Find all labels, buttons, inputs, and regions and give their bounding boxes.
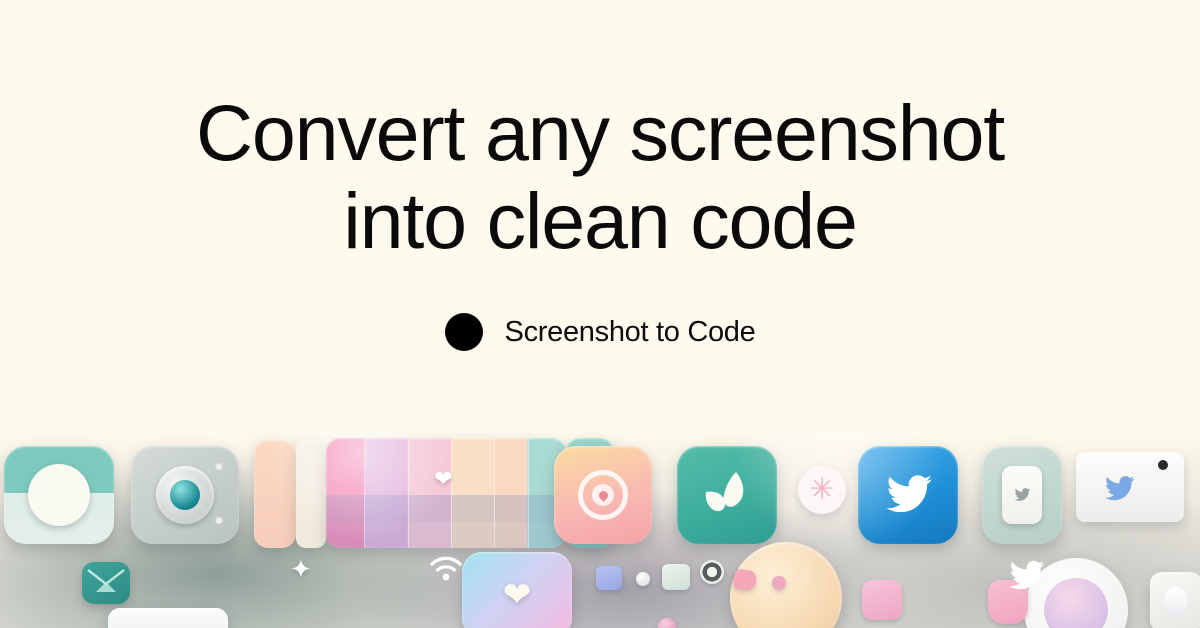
mini-blue-tile <box>596 566 622 590</box>
grid-line <box>528 438 529 548</box>
grid-line <box>364 438 365 548</box>
camera-lens-icon <box>156 466 214 524</box>
pastel-grid-tile: ❤ <box>326 438 566 548</box>
brand-lockup: Screenshot to Code <box>445 313 756 351</box>
page-title: Convert any screenshot into clean code <box>196 89 1004 266</box>
grid-line <box>494 438 495 548</box>
lens-glass-icon <box>170 480 200 510</box>
cream-bar-tile <box>296 440 326 548</box>
circle-icon <box>28 464 90 526</box>
teal-envelope <box>82 562 130 604</box>
grid-band <box>326 522 566 548</box>
camera-led-icon <box>215 516 223 524</box>
peach-bar-tile <box>254 440 296 548</box>
dot-icon <box>1158 460 1168 470</box>
brand-name: Screenshot to Code <box>505 316 756 349</box>
camera-tile <box>131 446 239 544</box>
star-badge: ✳ <box>798 466 846 514</box>
white-bird-card <box>1076 452 1184 522</box>
wifi-icon <box>428 556 464 587</box>
envelope-icon <box>86 566 126 600</box>
banner-content: Convert any screenshot into clean code S… <box>0 0 1200 440</box>
sparkle-icon: ✦ <box>290 556 312 582</box>
leaf-icon <box>700 470 754 520</box>
headline-line-2: into clean code <box>343 176 856 265</box>
toggle-knob <box>1165 587 1187 617</box>
location-pin-icon <box>597 489 610 502</box>
heart-icon: ❤ <box>434 468 452 490</box>
og-banner: Convert any screenshot into clean code S… <box>0 0 1200 628</box>
toggle-switch <box>1150 572 1200 628</box>
gradient-heart-tile: ❤ <box>462 552 572 628</box>
twitter-bird-icon <box>877 469 939 521</box>
mini-ring-icon <box>700 560 724 584</box>
mini-green-tile <box>662 564 690 590</box>
circle-logo-icon <box>445 313 483 351</box>
free-twitter-bird-icon <box>1002 556 1050 601</box>
camera-led-icon <box>215 462 223 470</box>
heart-icon: ❤ <box>503 578 532 612</box>
leaf-tile <box>677 446 777 544</box>
star-icon: ✳ <box>809 475 834 505</box>
twitter-tile <box>858 446 958 544</box>
mint-card-tile <box>982 446 1062 544</box>
grid-line <box>451 438 452 548</box>
location-pin-tile <box>554 446 652 544</box>
grid-band <box>326 495 566 521</box>
headline-line-1: Convert any screenshot <box>196 88 1004 177</box>
inner-card <box>1002 466 1042 524</box>
pin-ring-icon <box>578 470 628 520</box>
grid-line <box>408 438 409 548</box>
disc-inner <box>1044 578 1108 628</box>
blue-bird-icon <box>1098 472 1140 506</box>
mint-toggle-tile <box>4 446 114 544</box>
mini-bead <box>772 576 786 590</box>
mini-pearl <box>636 572 650 586</box>
pin-core-icon <box>592 484 614 506</box>
bird-icon <box>1011 486 1033 504</box>
pink-square-tile <box>862 580 902 620</box>
white-card <box>108 608 228 628</box>
